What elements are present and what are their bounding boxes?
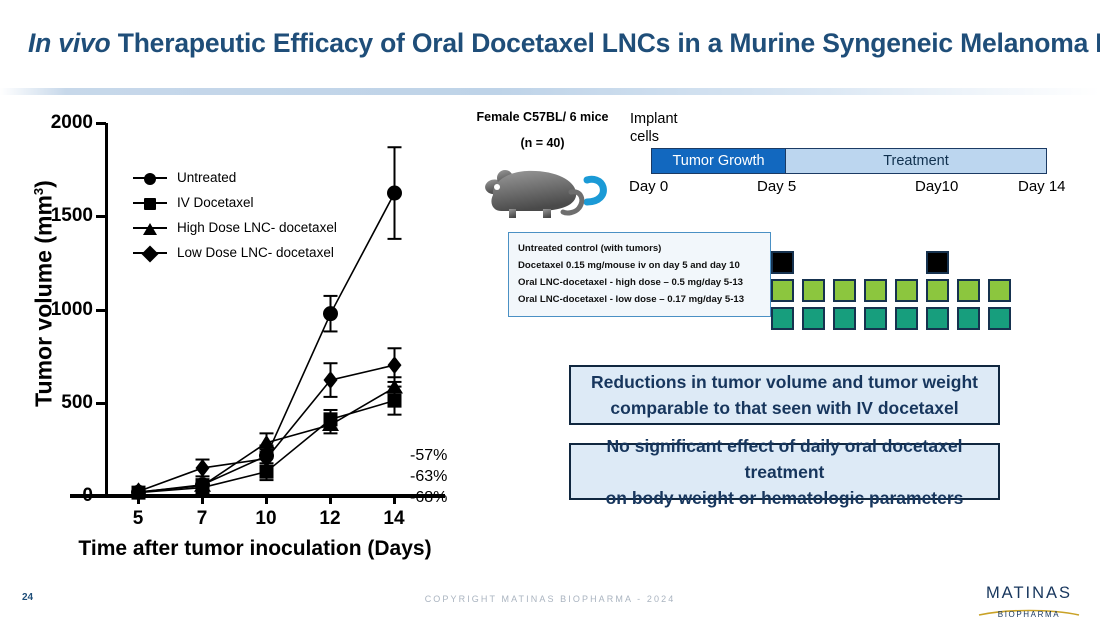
dose-cell — [957, 279, 980, 302]
dose-cell — [957, 251, 980, 274]
legend-item-iv-docetaxel: IV Docetaxel — [133, 192, 337, 213]
timeline-segment-tumor-growth: Tumor Growth — [652, 149, 785, 173]
callout1-line1: Reductions in tumor volume and tumor wei… — [591, 369, 978, 395]
title-italic: In vivo — [28, 28, 111, 58]
callout1-line2: comparable to that seen with IV docetaxe… — [591, 395, 978, 421]
dose-cell — [988, 279, 1011, 302]
logo-wordmark: MATINAS — [975, 584, 1083, 603]
timeline-day-10: Day10 — [915, 178, 958, 195]
dose-cell — [802, 251, 825, 274]
mouse-icon — [475, 162, 610, 224]
title-rest: Therapeutic Efficacy of Oral Docetaxel L… — [111, 28, 1100, 58]
dose-cell — [988, 307, 1011, 330]
dose-cell — [864, 251, 887, 274]
copyright-text: COPYRIGHT MATINAS BIOPHARMA - 2024 — [0, 594, 1100, 604]
legend-marker-square-icon — [133, 195, 167, 211]
legend-marker-triangle-icon — [133, 220, 167, 236]
slide: In vivo Therapeutic Efficacy of Oral Doc… — [0, 0, 1100, 619]
legend-item-untreated: Untreated — [133, 167, 337, 188]
legend-label-iv-docetaxel: IV Docetaxel — [177, 195, 254, 210]
implant-line2: cells — [630, 128, 678, 146]
dose-cell — [926, 279, 949, 302]
animal-strain-label: Female C57BL/ 6 mice — [455, 104, 630, 130]
chart-legend: Untreated IV Docetaxel High Dose LNC- do… — [133, 167, 337, 267]
animal-model-block: Female C57BL/ 6 mice (n = 40) — [455, 104, 630, 224]
callout2-line1: No significant effect of daily oral doce… — [571, 433, 998, 485]
timeline-day-0: Day 0 — [629, 178, 668, 195]
legend-marker-circle-icon — [133, 170, 167, 186]
dose-cell — [957, 307, 980, 330]
treatment-line-high-dose: Oral LNC-docetaxel - high dose – 0.5 mg/… — [518, 274, 761, 291]
dose-cell — [771, 251, 794, 274]
implant-cells-label: Implant cells — [630, 110, 678, 146]
page-title: In vivo Therapeutic Efficacy of Oral Doc… — [28, 28, 1083, 59]
dosing-row-high-dose — [771, 279, 1011, 302]
dose-cell — [771, 279, 794, 302]
dose-cell — [833, 307, 856, 330]
dose-cell — [926, 251, 949, 274]
dose-cell — [864, 279, 887, 302]
dose-cell — [895, 307, 918, 330]
dose-cell — [864, 307, 887, 330]
treatment-line-low-dose: Oral LNC-docetaxel - low dose – 0.17 mg/… — [518, 291, 761, 308]
legend-marker-diamond-icon — [133, 245, 167, 261]
callout2-line2: on body weight or hematologic parameters — [571, 485, 998, 511]
implant-line1: Implant — [630, 110, 678, 128]
treatment-groups-box: Untreated control (with tumors) Docetaxe… — [508, 232, 771, 317]
dosing-row-low-dose — [771, 307, 1011, 330]
study-timeline: Tumor Growth Treatment — [651, 148, 1047, 174]
dose-cell — [833, 251, 856, 274]
title-divider — [0, 88, 1100, 95]
treatment-line-iv: Docetaxel 0.15 mg/mouse iv on day 5 and … — [518, 257, 761, 274]
legend-label-low-dose: Low Dose LNC- docetaxel — [177, 245, 334, 260]
timeline-day-14: Day 14 — [1018, 178, 1066, 195]
legend-item-low-dose: Low Dose LNC- docetaxel — [133, 242, 337, 263]
annotation-68: -68% — [410, 487, 447, 508]
dosing-row-iv — [771, 251, 1011, 274]
matinas-logo: MATINAS BIOPHARMA — [975, 584, 1083, 619]
dose-cell — [771, 307, 794, 330]
legend-item-high-dose: High Dose LNC- docetaxel — [133, 217, 337, 238]
animal-count-label: (n = 40) — [455, 130, 630, 156]
dosing-schedule-grid — [771, 251, 1011, 335]
tumor-volume-chart: Tumor volume (mm3) 2000 1500 1000 500 0 … — [0, 105, 470, 565]
legend-label-high-dose: High Dose LNC- docetaxel — [177, 220, 337, 235]
dose-cell — [895, 251, 918, 274]
dose-cell — [988, 251, 1011, 274]
reduction-annotations: -57% -63% -68% — [410, 445, 447, 508]
annotation-57: -57% — [410, 445, 447, 466]
timeline-day-5: Day 5 — [757, 178, 796, 195]
callout-tumor-reduction: Reductions in tumor volume and tumor wei… — [569, 365, 1000, 425]
dose-cell — [802, 279, 825, 302]
annotation-63: -63% — [410, 466, 447, 487]
legend-label-untreated: Untreated — [177, 170, 236, 185]
dose-cell — [926, 307, 949, 330]
treatment-line-untreated: Untreated control (with tumors) — [518, 240, 761, 257]
logo-swoosh-icon — [977, 603, 1081, 610]
dose-cell — [895, 279, 918, 302]
timeline-segment-treatment: Treatment — [785, 149, 1046, 173]
dose-cell — [802, 307, 825, 330]
dose-cell — [833, 279, 856, 302]
callout-safety: No significant effect of daily oral doce… — [569, 443, 1000, 500]
